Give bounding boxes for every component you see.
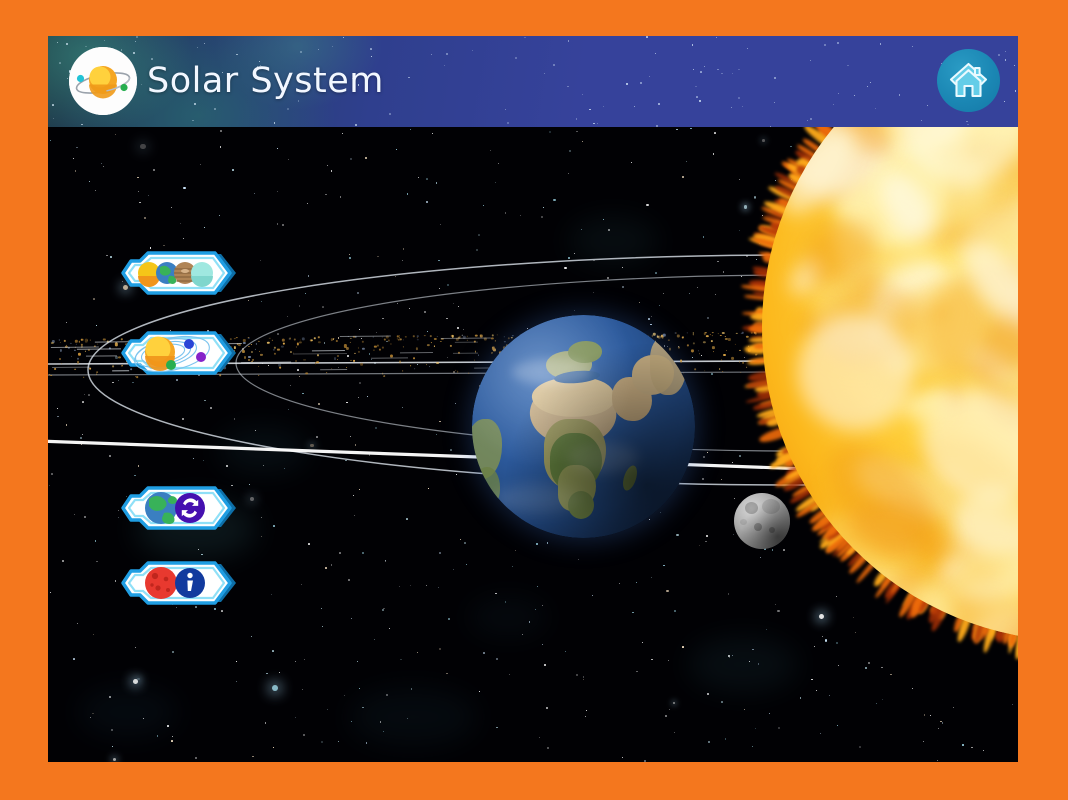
sun-orbits-icon (132, 332, 216, 374)
earth (472, 315, 695, 538)
planets-icon-row (136, 255, 210, 291)
sidebar-button-planets[interactable] (118, 248, 236, 298)
rotate-refresh-icon (175, 493, 205, 523)
sun (746, 127, 1018, 657)
saturn-planet-icon (69, 47, 137, 115)
sidebar-button-orbits[interactable] (118, 328, 236, 378)
sidebar-button-info[interactable] (118, 558, 236, 608)
app-header: Solar System (48, 36, 1018, 127)
page-title: Solar System (147, 61, 384, 101)
app-window: Solar System (48, 36, 1018, 762)
moon (734, 493, 790, 549)
home-icon (949, 62, 988, 99)
home-button[interactable] (937, 49, 1000, 112)
space-scene (48, 127, 1018, 762)
sidebar-button-rotation[interactable] (118, 483, 236, 533)
app-screen: Solar System (0, 0, 1068, 800)
mars-planet-icon (145, 567, 177, 599)
